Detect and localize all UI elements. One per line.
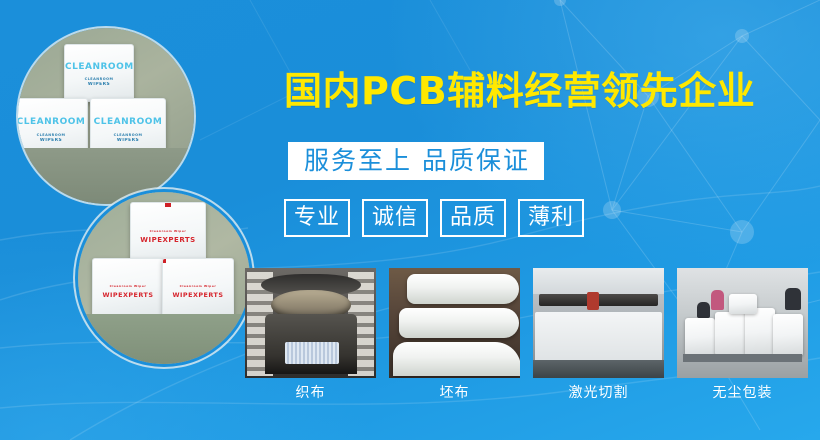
knitted-fabric: [285, 342, 339, 364]
workshop-wall: [533, 268, 664, 294]
product-photo-cleanroom-wipers: CLEANROOM CLEANROOM WIPERS CLEANROOM CLE…: [18, 28, 194, 204]
thumbnail-caption-weaving: 织布: [245, 385, 376, 402]
packed-bale: [745, 308, 775, 356]
thumbnail-caption-laser-cutting: 激光切割: [533, 385, 664, 402]
subtitle-text: 服务至上 品质保证: [304, 147, 530, 174]
package-wipexperts-right: Cleanroom Wiper WIPEXPERTS: [162, 258, 234, 318]
thumbnail-image-laser-cutting[interactable]: [533, 268, 664, 378]
packed-bale: [729, 294, 757, 314]
package-wipexperts-top: Cleanroom Wiper WIPEXPERTS: [130, 202, 206, 264]
package-brand-label: WIPEXPERTS: [93, 291, 163, 299]
package-brand-label: WIPEXPERTS: [131, 236, 205, 244]
product-photo-wipexperts: Cleanroom Wiper WIPEXPERTS Cleanroom Wip…: [78, 192, 250, 364]
promo-banner: CLEANROOM CLEANROOM WIPERS CLEANROOM CLE…: [0, 0, 820, 440]
headline-text: 国内PCB辅料经营领先企业: [284, 72, 755, 110]
laser-cutting-head: [587, 292, 599, 310]
package-sub-label-1: CLEANROOM: [91, 133, 165, 137]
feature-tag-list: 专业 诚信 品质 薄利: [284, 199, 584, 237]
package-sub-label-1: CLEANROOM: [18, 133, 87, 137]
photo-floor: [78, 314, 250, 364]
package-brand-label: CLEANROOM: [65, 62, 133, 72]
packing-table: [683, 354, 802, 362]
package-sub-label-2: WIPERS: [65, 82, 133, 87]
worker-figure: [697, 302, 710, 318]
fabric-roll: [407, 274, 519, 304]
thumbnail-cell-greycloth[interactable]: 坯布: [389, 268, 520, 402]
thumbnail-image-greycloth[interactable]: [389, 268, 520, 378]
red-stamp-icon: [165, 202, 171, 207]
feature-tag-integrity[interactable]: 诚信: [362, 199, 428, 237]
package-wipexperts-left: Cleanroom Wiper WIPEXPERTS: [92, 258, 164, 318]
package-sub-label-1: CLEANROOM: [65, 77, 133, 81]
thumbnail-image-weaving[interactable]: [245, 268, 376, 378]
feature-tag-professional[interactable]: 专业: [284, 199, 350, 237]
package-sub-label-2: WIPERS: [18, 138, 87, 143]
package-sub-label-1: Cleanroom Wiper: [163, 284, 233, 288]
worker-figure: [785, 288, 801, 310]
package-brand-label: CLEANROOM: [91, 117, 165, 127]
feature-tag-quality[interactable]: 品质: [440, 199, 506, 237]
thumbnail-cell-laser-cutting[interactable]: 激光切割: [533, 268, 664, 402]
thumbnail-cell-cleanroom-packing[interactable]: 无尘包装: [677, 268, 808, 402]
fabric-roll: [399, 308, 519, 338]
package-cleanroom-top: CLEANROOM CLEANROOM WIPERS: [64, 44, 134, 102]
machine-base: [533, 360, 664, 378]
worker-figure: [711, 290, 724, 310]
thumbnail-caption-cleanroom-packing: 无尘包装: [677, 385, 808, 402]
feature-tag-low-margin[interactable]: 薄利: [518, 199, 584, 237]
packed-bale: [773, 314, 803, 356]
package-sub-label-2: WIPERS: [91, 138, 165, 143]
thumbnail-caption-greycloth: 坯布: [389, 385, 520, 402]
fabric-roll: [393, 342, 520, 376]
package-brand-label: CLEANROOM: [18, 117, 87, 127]
thumbnail-image-cleanroom-packing[interactable]: [677, 268, 808, 378]
red-stamp-icon: [162, 258, 166, 263]
package-sub-label-1: Cleanroom Wiper: [93, 284, 163, 288]
thumbnail-cell-weaving[interactable]: 织布: [245, 268, 376, 402]
process-thumbnail-strip: 织布 坯布 激光切割: [245, 268, 805, 402]
packed-bale: [715, 312, 747, 356]
subtitle-box: 服务至上 品质保证: [288, 142, 544, 180]
packed-bale: [685, 318, 715, 356]
package-sub-label-1: Cleanroom Wiper: [131, 229, 205, 233]
cutting-bed: [535, 312, 662, 362]
package-brand-label: WIPEXPERTS: [163, 291, 233, 299]
